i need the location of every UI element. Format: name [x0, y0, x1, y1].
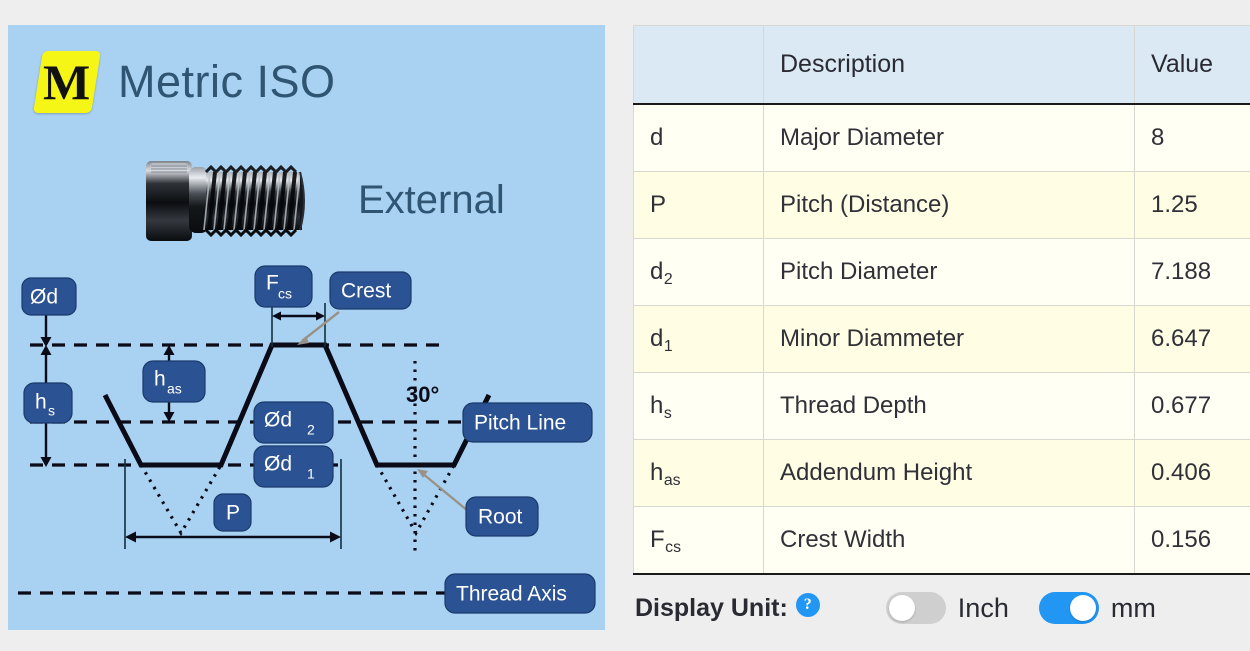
col-header-value: Value: [1135, 26, 1250, 105]
table-row: FcsCrest Width0.156: [634, 507, 1250, 575]
table-row: d2Pitch Diameter7.188: [634, 239, 1250, 306]
table-row: hsThread Depth0.677: [634, 373, 1250, 440]
pill-crest: Crest: [330, 272, 411, 309]
thread-spec-table: Description Value dMajor Diameter8PPitch…: [633, 25, 1250, 575]
standard-title: Metric ISO: [118, 56, 336, 108]
col-header-description: Description: [764, 26, 1135, 105]
thread-diagram-panel: M Metric ISO: [8, 25, 605, 630]
cell-value: 8: [1135, 104, 1250, 172]
table-header-row: Description Value: [634, 26, 1250, 105]
pill-root: Root: [466, 497, 538, 536]
bolt-icon: [142, 153, 342, 247]
display-unit-label: Display Unit:: [635, 594, 788, 623]
bolt-illustration-row: External: [142, 153, 505, 247]
pill-label-fcs-sub: cs: [278, 286, 292, 302]
unit-toggle-inch-label: Inch: [958, 593, 1009, 624]
pill-crest-width: F cs: [255, 266, 312, 307]
pill-label-hs: h: [35, 391, 47, 414]
table-row: d1Minor Diammeter6.647: [634, 306, 1250, 373]
pill-label-od2-sub: 2: [307, 422, 315, 438]
specification-panel: Description Value dMajor Diameter8PPitch…: [633, 25, 1234, 624]
flank-angle-label: 30°: [406, 382, 439, 407]
toggle-knob: [1070, 595, 1096, 621]
col-header-symbol: [634, 26, 764, 105]
pill-pitch: P: [214, 494, 251, 531]
cell-value: 1.25: [1135, 172, 1250, 239]
metric-badge-icon: M: [33, 51, 101, 113]
cell-value: 0.406: [1135, 440, 1250, 507]
pill-label-fcs: F: [266, 272, 279, 295]
pitch-dimension: [125, 532, 341, 543]
cell-symbol: d2: [634, 239, 764, 306]
root-leader-line: [417, 469, 468, 511]
table-head: Description Value: [634, 26, 1250, 105]
pill-label-has: h: [154, 368, 166, 391]
unit-toggle-mm-label: mm: [1111, 593, 1156, 624]
pill-label-has-sub: as: [167, 381, 182, 397]
pill-label-od2: Ød: [264, 409, 292, 432]
thread-profile-diagram: 30° Ød h s h as F cs Crest Ød 2: [8, 261, 605, 621]
pill-label-root: Root: [478, 506, 523, 529]
cell-symbol: d1: [634, 306, 764, 373]
cell-description: Crest Width: [764, 507, 1135, 575]
thread-type-label: External: [358, 178, 505, 223]
table-row: hasAddendum Height0.406: [634, 440, 1250, 507]
cell-symbol: Fcs: [634, 507, 764, 575]
cell-symbol: P: [634, 172, 764, 239]
pill-label-od1-sub: 1: [307, 466, 315, 482]
pill-thread-axis: Thread Axis: [445, 574, 595, 613]
pill-addendum-height: h as: [143, 361, 205, 402]
pill-label-thread-axis: Thread Axis: [456, 583, 567, 606]
cell-value: 6.647: [1135, 306, 1250, 373]
cell-value: 7.188: [1135, 239, 1250, 306]
cell-description: Thread Depth: [764, 373, 1135, 440]
unit-toggle-inch[interactable]: [886, 592, 946, 624]
cell-symbol: has: [634, 440, 764, 507]
root-v-left: [141, 465, 221, 533]
pill-label-od1: Ød: [264, 453, 292, 476]
cell-value: 0.156: [1135, 507, 1250, 575]
pill-pitch-diameter: Ød 2: [254, 402, 333, 443]
crest-width-dimension: [272, 312, 325, 321]
pill-major-diameter: Ød: [22, 278, 76, 315]
pill-label-od: Ød: [30, 286, 58, 309]
table-row: dMajor Diameter8: [634, 104, 1250, 172]
unit-toggle-mm[interactable]: [1039, 592, 1099, 624]
metric-iso-header: M Metric ISO: [38, 49, 336, 115]
cell-description: Pitch Diameter: [764, 239, 1135, 306]
cell-value: 0.677: [1135, 373, 1250, 440]
pill-pitch-line: Pitch Line: [463, 403, 592, 442]
cell-symbol: hs: [634, 373, 764, 440]
question-mark-icon[interactable]: ?: [796, 593, 820, 617]
table-body: dMajor Diameter8PPitch (Distance)1.25d2P…: [634, 104, 1250, 574]
table-row: PPitch (Distance)1.25: [634, 172, 1250, 239]
display-unit-row: Display Unit: ? Inch mm: [633, 592, 1234, 624]
cell-description: Addendum Height: [764, 440, 1135, 507]
toggle-knob: [889, 595, 915, 621]
unit-toggle-mm-group[interactable]: mm: [1039, 592, 1156, 624]
pill-minor-diameter: Ød 1: [254, 446, 333, 487]
cell-symbol: d: [634, 104, 764, 172]
cell-description: Pitch (Distance): [764, 172, 1135, 239]
pill-label-hs-sub: s: [48, 403, 55, 419]
cell-description: Major Diameter: [764, 104, 1135, 172]
pill-thread-depth: h s: [24, 383, 72, 423]
pill-label-pitch-line: Pitch Line: [474, 412, 566, 435]
unit-toggle-inch-group[interactable]: Inch: [886, 592, 1009, 624]
cell-description: Minor Diammeter: [764, 306, 1135, 373]
pill-label-crest: Crest: [341, 280, 391, 303]
pill-label-p: P: [226, 502, 240, 525]
metric-badge-letter: M: [43, 57, 90, 107]
